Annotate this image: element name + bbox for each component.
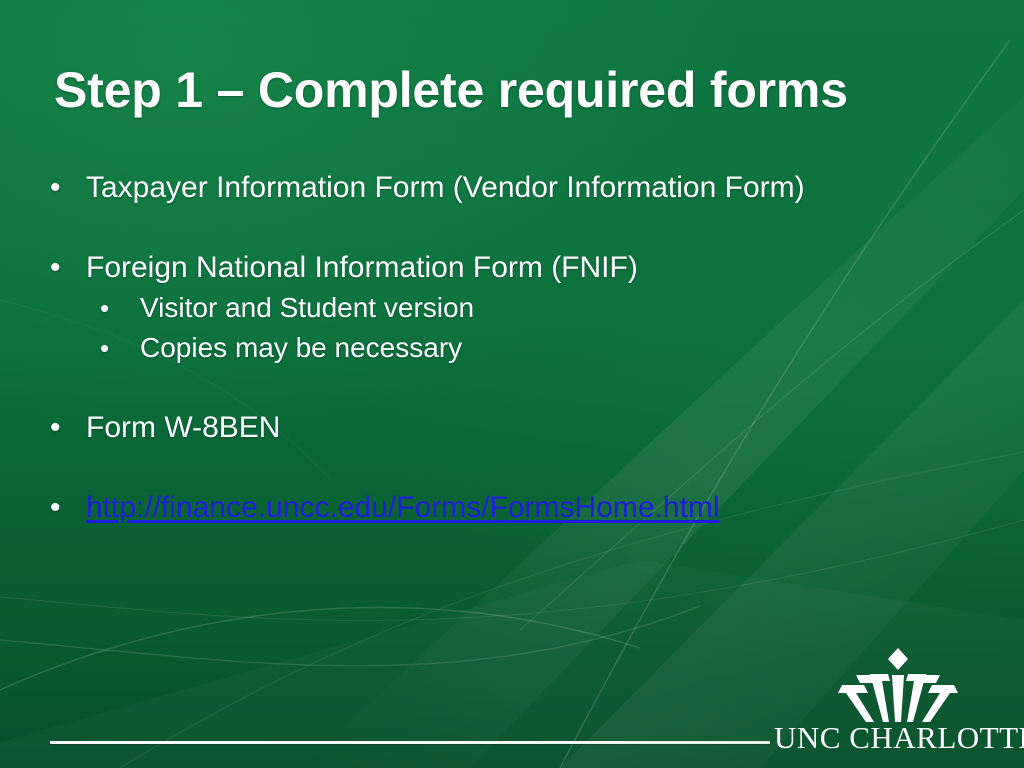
list-item: • Form W-8BEN [0,408,1024,448]
list-item-label: Visitor and Student version [140,292,474,323]
forms-home-link[interactable]: http://finance.uncc.edu/Forms/FormsHome.… [86,491,720,524]
list-item-label: Foreign National Information Form (FNIF) [86,251,638,284]
list-item: • Taxpayer Information Form (Vendor Info… [0,168,1024,208]
list-spacer [0,208,1024,248]
list-item: • Copies may be necessary [0,328,1024,368]
bullet-marker-icon: • [50,408,61,448]
unc-charlotte-crown-icon [834,648,962,722]
list-spacer [0,368,1024,408]
slide-title: Step 1 – Complete required forms [54,62,984,118]
list-item: • http://finance.uncc.edu/Forms/FormsHom… [0,488,1024,528]
bullet-marker-icon: • [100,328,109,368]
bullet-marker-icon: • [50,488,61,528]
bullet-marker-icon: • [100,288,109,328]
list-spacer [0,448,1024,488]
bullet-marker-icon: • [50,248,61,288]
list-item: • Visitor and Student version [0,288,1024,328]
list-item-label: Taxpayer Information Form (Vendor Inform… [86,171,805,204]
list-item-label: Copies may be necessary [140,332,462,363]
list-item-label: Form W-8BEN [86,411,280,444]
footer-divider [50,741,770,744]
bullet-marker-icon: • [50,168,61,208]
unc-charlotte-wordmark: UNC CHARLOTTE [774,720,1024,756]
unc-charlotte-logo: UNC CHARLOTTE [772,648,1024,760]
bullet-list: • Taxpayer Information Form (Vendor Info… [0,168,1024,528]
presentation-slide: Step 1 – Complete required forms • Taxpa… [0,0,1024,768]
list-item: • Foreign National Information Form (FNI… [0,248,1024,288]
